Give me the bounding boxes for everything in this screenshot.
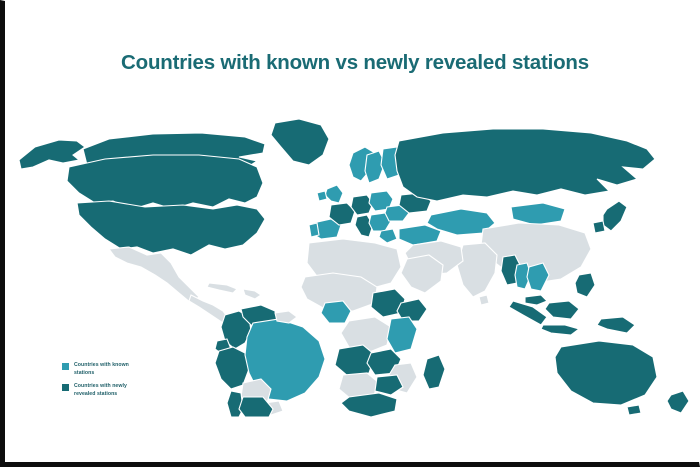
legend-item-known: Countries with known stations [62, 362, 192, 377]
map-legend: Countries with known stations Countries … [62, 362, 192, 404]
legend-swatch-newly-revealed [62, 384, 69, 391]
legend-item-newly-revealed: Countries with newly revealed stations [62, 383, 192, 398]
country-ireland [317, 191, 327, 201]
country-tasmania [627, 405, 641, 415]
figure-frame: Countries with known vs newly revealed s… [0, 0, 700, 467]
legend-swatch-known [62, 363, 69, 370]
country-sri-lanka [479, 295, 489, 305]
legend-label-known: Countries with known stations [74, 362, 140, 377]
country-portugal [309, 223, 319, 237]
page-title: Countries with known vs newly revealed s… [5, 51, 700, 75]
legend-label-newly-revealed: Countries with newly revealed stations [74, 383, 140, 398]
country-south-korea [593, 221, 605, 233]
